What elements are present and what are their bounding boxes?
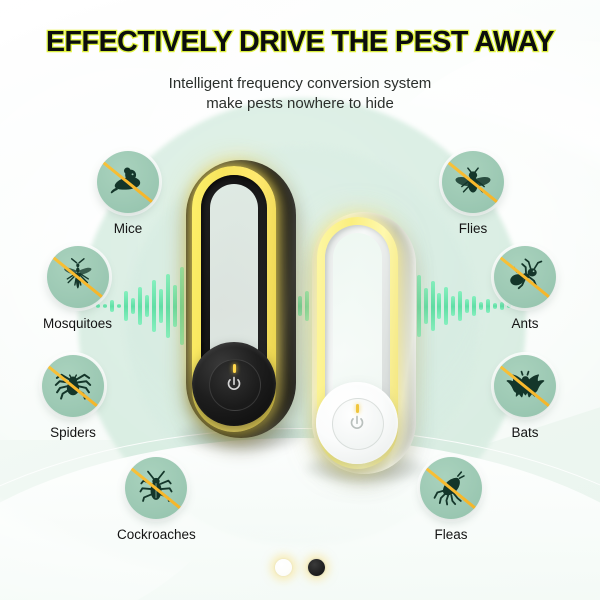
- pest-badge-circle: [47, 246, 109, 308]
- power-icon: [224, 375, 244, 395]
- white-device-button-base[interactable]: [316, 382, 398, 464]
- waveform-bar: [152, 280, 156, 332]
- waveform-bar: [472, 296, 476, 316]
- waveform-bar: [166, 274, 170, 339]
- pest-badge-label: Fleas: [420, 527, 482, 542]
- pest-badge-fleas[interactable]: Fleas: [420, 457, 482, 542]
- power-icon: [347, 414, 367, 434]
- waveform-bar: [138, 287, 142, 325]
- waveform-bar: [431, 281, 435, 330]
- headline-area: EFFECTIVELY DRIVE THE PEST AWAY: [0, 28, 600, 57]
- color-option-swatches: [0, 559, 600, 576]
- color-swatch-black[interactable]: [308, 559, 325, 576]
- pest-badge-label: Cockroaches: [117, 527, 196, 542]
- pest-badge-circle: [125, 457, 187, 519]
- waveform-bar: [486, 299, 490, 312]
- pest-badge-circle: [494, 246, 556, 308]
- black-device-button-base[interactable]: [192, 342, 276, 426]
- led-indicator: [356, 404, 359, 413]
- subtitle-line-2: make pests nowhere to hide: [0, 94, 600, 114]
- subtitle: Intelligent frequency conversion system …: [0, 74, 600, 114]
- pest-badge-circle: [42, 355, 104, 417]
- waveform-bar: [437, 293, 441, 320]
- waveform-bar: [444, 287, 448, 325]
- pest-badge-label: Ants: [494, 316, 556, 331]
- pest-badge-bats[interactable]: Bats: [494, 355, 556, 440]
- pest-badge-spiders[interactable]: Spiders: [42, 355, 104, 440]
- pest-badge-label: Mosquitoes: [43, 316, 112, 331]
- waveform-bar: [145, 295, 149, 317]
- waveform-bar: [117, 304, 121, 308]
- pest-badge-label: Bats: [494, 425, 556, 440]
- waveform-bar: [479, 302, 483, 311]
- pest-badge-cockroaches[interactable]: Cockroaches: [117, 457, 196, 542]
- waveform-bar: [465, 299, 469, 312]
- pest-badge-circle: [494, 355, 556, 417]
- waveform-bar: [159, 289, 163, 323]
- white-repeller-device[interactable]: [312, 212, 416, 474]
- pest-badge-label: Flies: [442, 221, 504, 236]
- pest-badge-label: Mice: [97, 221, 159, 236]
- pest-badge-label: Spiders: [42, 425, 104, 440]
- pest-badge-mice[interactable]: Mice: [97, 151, 159, 236]
- pest-badge-flies[interactable]: Flies: [442, 151, 504, 236]
- waveform-bar: [451, 296, 455, 316]
- black-repeller-device[interactable]: [186, 160, 296, 438]
- waveform-bar: [124, 291, 128, 320]
- pest-badge-circle: [442, 151, 504, 213]
- led-indicator: [233, 364, 236, 373]
- color-swatch-white[interactable]: [275, 559, 292, 576]
- pest-badge-ants[interactable]: Ants: [494, 246, 556, 331]
- page-title: EFFECTIVELY DRIVE THE PEST AWAY: [46, 28, 554, 57]
- subtitle-line-1: Intelligent frequency conversion system: [0, 74, 600, 94]
- pest-badge-circle: [420, 457, 482, 519]
- pest-badge-circle: [97, 151, 159, 213]
- product-infographic: EFFECTIVELY DRIVE THE PEST AWAY Intellig…: [0, 0, 600, 600]
- pest-badge-mosquitoes[interactable]: Mosquitoes: [43, 246, 112, 331]
- waveform-bar: [458, 291, 462, 320]
- waveform-bar: [131, 298, 135, 314]
